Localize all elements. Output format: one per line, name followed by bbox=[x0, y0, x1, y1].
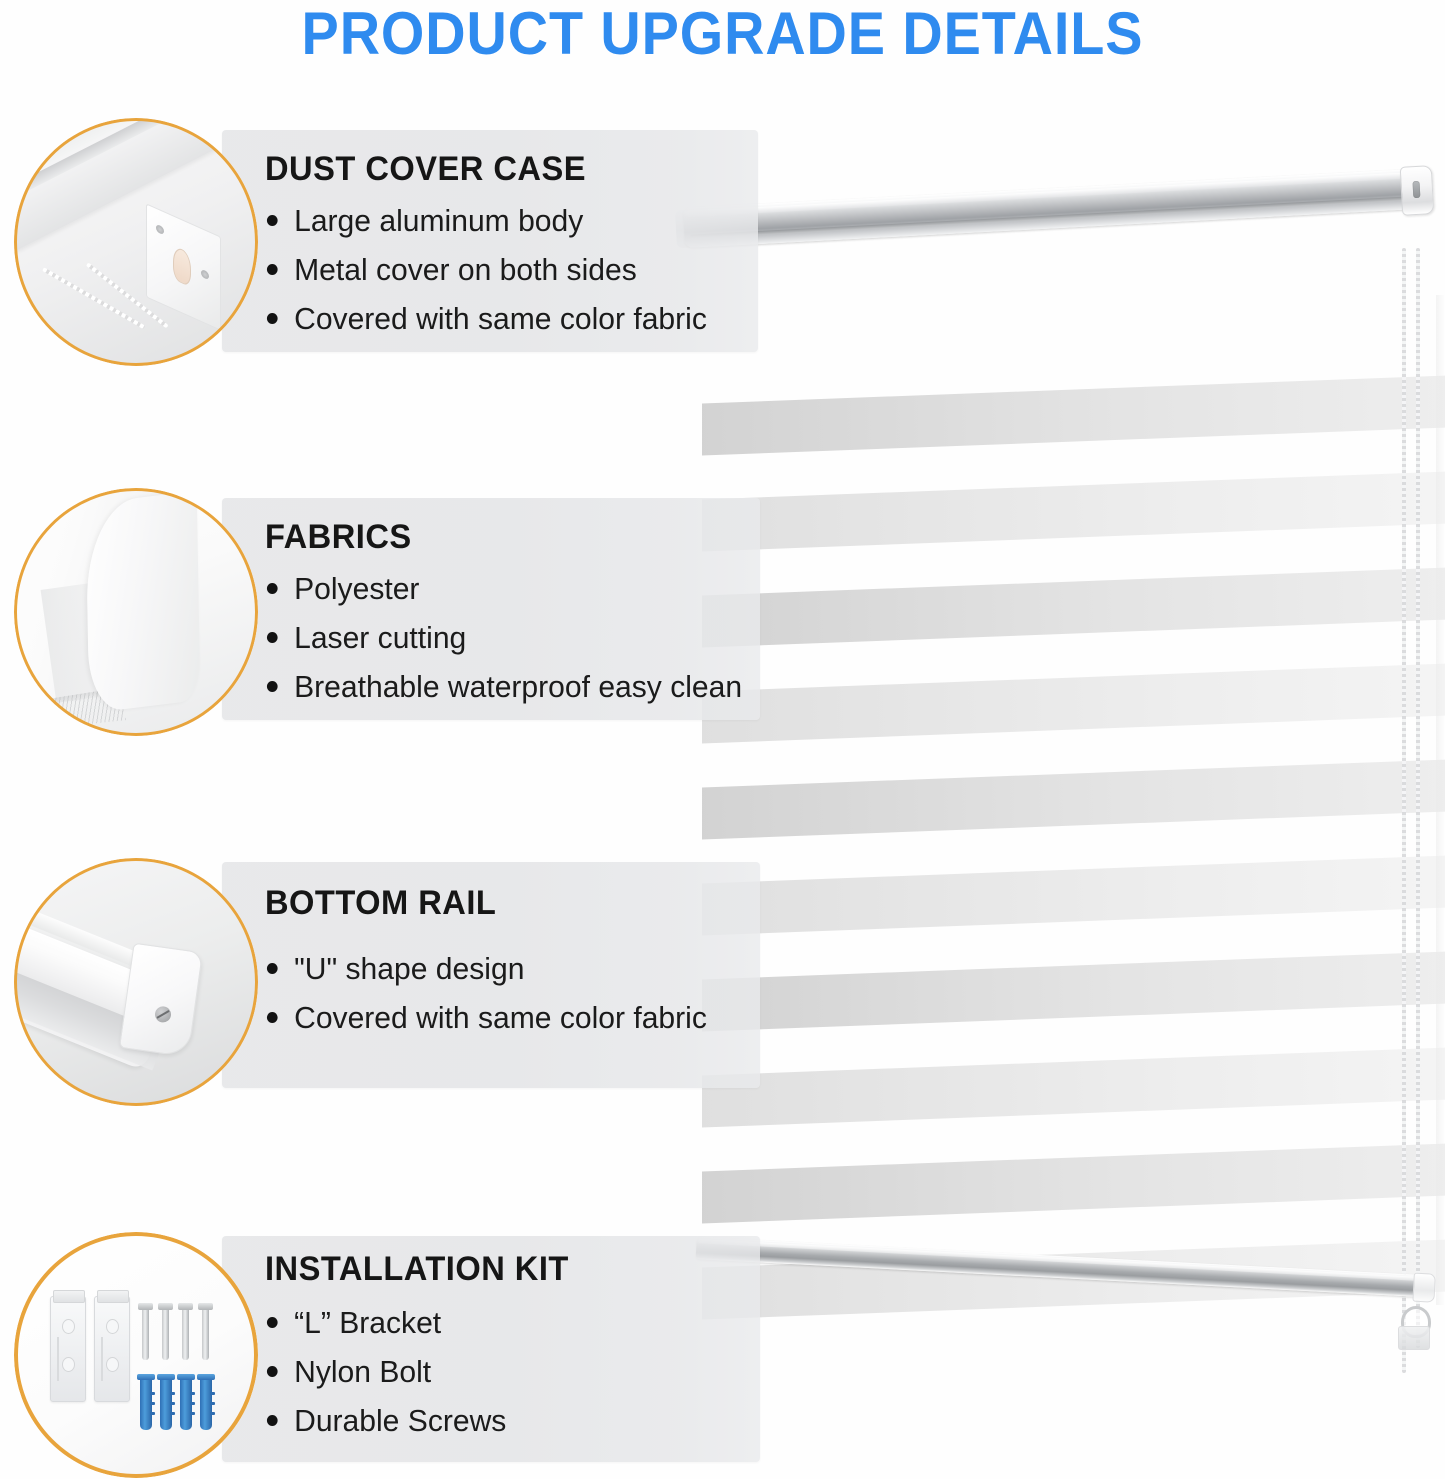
bullet-dot-icon bbox=[267, 264, 278, 275]
bullet-dot-icon bbox=[267, 963, 278, 974]
feature-bullet-list: “L” Bracket Nylon Bolt Durable Screws bbox=[265, 1298, 514, 1445]
bullet-text: Covered with same color fabric bbox=[294, 1000, 707, 1035]
bullet-text: Breathable waterproof easy clean bbox=[294, 669, 742, 704]
bullet-text: Covered with same color fabric bbox=[294, 301, 707, 336]
l-bracket-icon bbox=[94, 1296, 130, 1402]
bullet-dot-icon bbox=[267, 1317, 278, 1328]
bullet-item: Polyester bbox=[265, 564, 742, 613]
bullet-dot-icon bbox=[267, 1012, 278, 1023]
screw-icon bbox=[202, 1308, 209, 1360]
screw-icon bbox=[182, 1308, 189, 1360]
chain-tensioner bbox=[1398, 1306, 1428, 1346]
bullet-item: Large aluminum body bbox=[265, 196, 707, 245]
feature-heading: FABRICS bbox=[265, 518, 412, 557]
wall-anchor-icon bbox=[160, 1378, 172, 1430]
screw-icon bbox=[142, 1308, 149, 1360]
hardware-kit-photo bbox=[14, 1232, 258, 1478]
feature-heading: BOTTOM RAIL bbox=[265, 884, 496, 923]
wall-anchor-icon bbox=[140, 1378, 152, 1430]
bullet-text: Laser cutting bbox=[294, 620, 466, 655]
feature-bullet-list: Polyester Laser cutting Breathable water… bbox=[265, 564, 757, 711]
headrail bbox=[683, 168, 1444, 250]
bullet-item: Metal cover on both sides bbox=[265, 245, 707, 294]
infographic-canvas: PRODUCT UPGRADE DETAILS bbox=[0, 0, 1445, 1479]
bullet-dot-icon bbox=[267, 1415, 278, 1426]
bullet-text: Nylon Bolt bbox=[294, 1354, 431, 1389]
wall-anchor-icon bbox=[180, 1378, 192, 1430]
bullet-text: "U" shape design bbox=[294, 951, 524, 986]
bullet-text: Large aluminum body bbox=[294, 203, 583, 238]
bullet-item: Covered with same color fabric bbox=[265, 294, 707, 343]
l-bracket-icon bbox=[50, 1296, 86, 1402]
feature-bullet-list: Large aluminum body Metal cover on both … bbox=[265, 196, 721, 343]
product-illustration-zebra-shade bbox=[690, 200, 1445, 1310]
bullet-item: “L” Bracket bbox=[265, 1298, 506, 1347]
bullet-item: Durable Screws bbox=[265, 1396, 506, 1445]
bullet-dot-icon bbox=[267, 583, 278, 594]
bullet-text: Metal cover on both sides bbox=[294, 252, 637, 287]
bead-chain bbox=[1402, 248, 1406, 1388]
bullet-text: “L” Bracket bbox=[294, 1305, 441, 1340]
bullet-item: Covered with same color fabric bbox=[265, 993, 707, 1042]
headrail-cassette-photo bbox=[14, 118, 258, 366]
feature-heading: INSTALLATION KIT bbox=[265, 1250, 569, 1289]
bullet-text: Polyester bbox=[294, 571, 419, 606]
bottom-rail-endcap-photo bbox=[14, 858, 258, 1106]
screw-icon bbox=[162, 1308, 169, 1360]
bullet-dot-icon bbox=[267, 313, 278, 324]
wall-anchor-icon bbox=[200, 1378, 212, 1430]
fabric-swatch-photo bbox=[14, 488, 258, 736]
bullet-dot-icon bbox=[267, 215, 278, 226]
bullet-dot-icon bbox=[267, 681, 278, 692]
bullet-item: Laser cutting bbox=[265, 613, 742, 662]
feature-bullet-list: "U" shape design Covered with same color… bbox=[265, 944, 721, 1042]
bullet-dot-icon bbox=[267, 632, 278, 643]
feature-heading: DUST COVER CASE bbox=[265, 150, 586, 189]
bullet-item: "U" shape design bbox=[265, 944, 707, 993]
bullet-dot-icon bbox=[267, 1366, 278, 1377]
bullet-item: Nylon Bolt bbox=[265, 1347, 506, 1396]
shade-fabric bbox=[702, 255, 1445, 1365]
page-title: PRODUCT UPGRADE DETAILS bbox=[51, 2, 1395, 66]
bullet-item: Breathable waterproof easy clean bbox=[265, 662, 742, 711]
bullet-text: Durable Screws bbox=[294, 1403, 506, 1438]
